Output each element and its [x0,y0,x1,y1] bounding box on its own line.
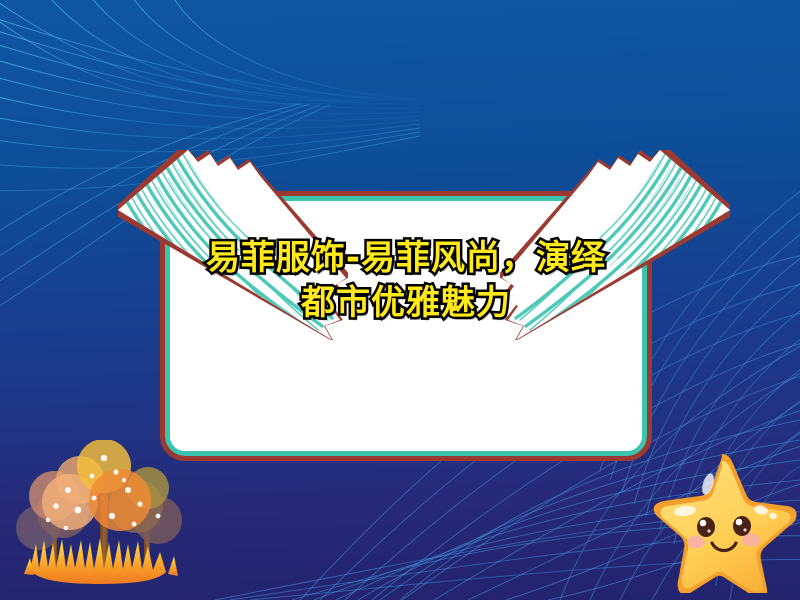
tree-canopy-circle [89,469,151,531]
tree-dot [65,487,71,493]
tree-dot [125,487,131,493]
presentation-slide: 易菲服饰-易菲风尚，演绎 都市优雅魅力 [0,0,800,600]
tree-dot [53,503,59,509]
content-frame [165,196,647,456]
tree-dot [132,522,137,527]
tree-dot [109,513,115,519]
frame-inner-panel [170,201,642,451]
smiling-star-decoration [645,448,800,593]
tree-dot [122,478,126,482]
tree-dot [101,455,107,461]
tree-dot [75,507,82,514]
tree-dot [90,474,95,479]
tree-dot [137,501,142,506]
tree-dot [46,518,50,522]
tree-dot [156,514,161,519]
tree-canopy [16,440,182,550]
tree-dot [113,469,118,474]
autumn-trees-decoration [8,440,193,600]
tree-dot [64,526,68,530]
tree-dot [92,496,97,501]
